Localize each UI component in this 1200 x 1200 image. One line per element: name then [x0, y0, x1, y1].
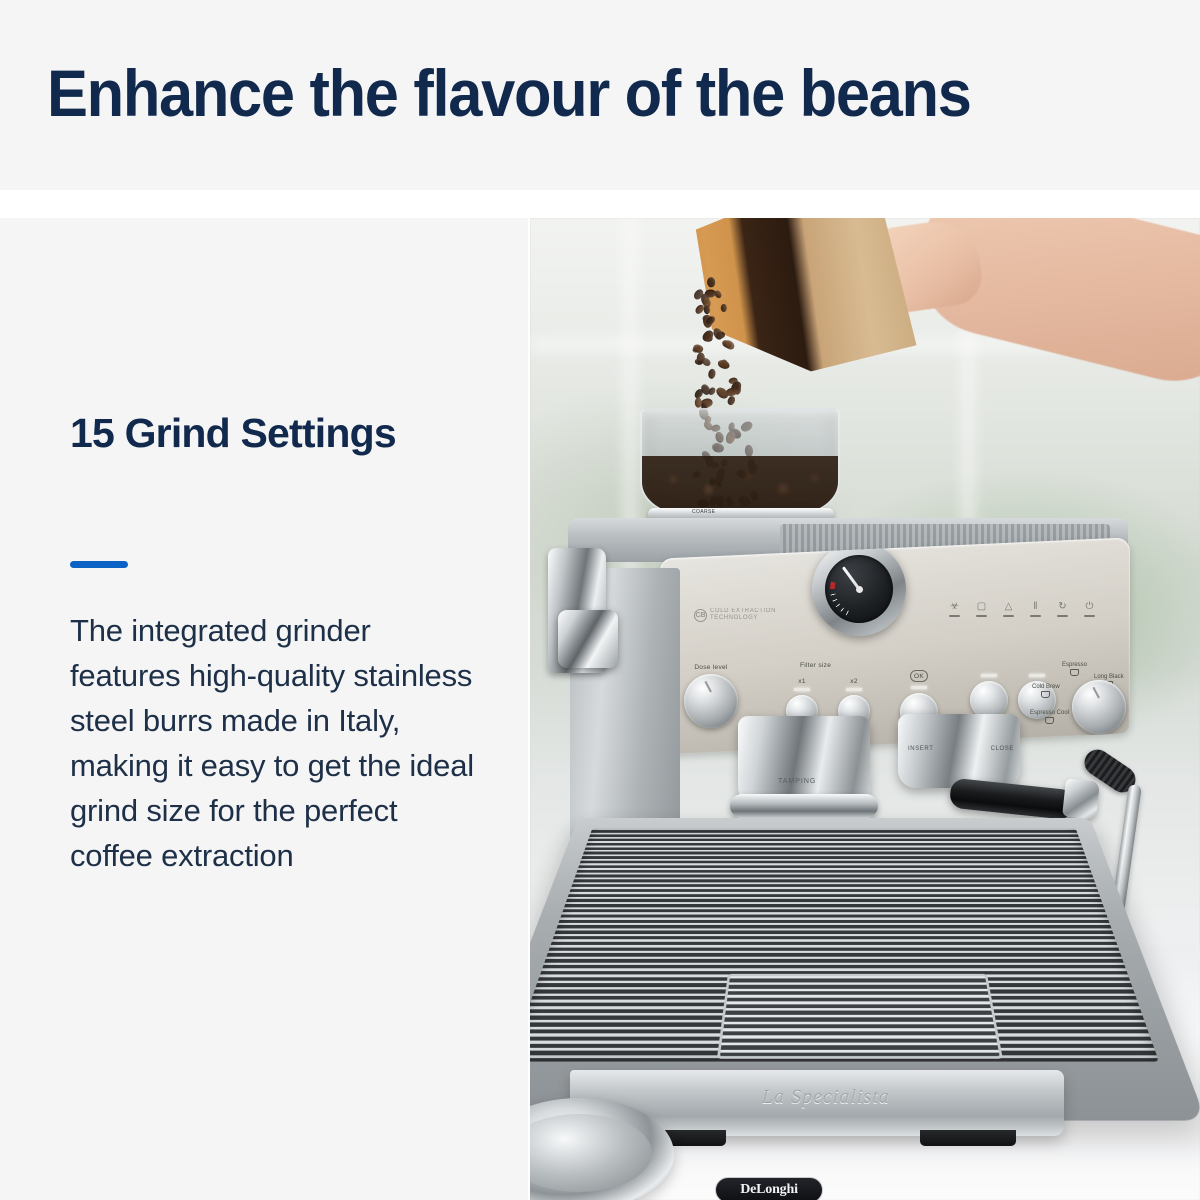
cold-extraction-mark: CB [694, 609, 707, 622]
cup-warmer-icon: ▢ [975, 602, 988, 617]
drink-mode-label: Espresso [1062, 662, 1087, 676]
pressure-gauge [812, 542, 906, 636]
drink-mode-icon [1070, 669, 1079, 676]
ok-label: OK [910, 670, 928, 682]
portafilter-labels: INSERT CLOSE [908, 746, 1014, 752]
feature-description: The integrated grinder features high-qua… [70, 608, 482, 878]
filter-size-label: Filter size [800, 662, 831, 669]
drink-mode-label: Cold Brew [1032, 684, 1060, 698]
metal-saucer-inner [530, 1114, 652, 1192]
coffee-bean [707, 368, 716, 379]
dose-level-control[interactable]: Dose level [684, 664, 738, 728]
hot-water-button[interactable] [970, 681, 1008, 719]
promo-page: Enhance the flavour of the beans 15 Grin… [0, 0, 1200, 1200]
pressure-gauge-hub [856, 586, 863, 593]
power-icon: ⏻ [1083, 602, 1096, 617]
drink-mode-icon [1041, 691, 1050, 698]
header-band: Enhance the flavour of the beans [0, 0, 1200, 190]
tamping-label: TAMPING [778, 778, 816, 785]
coffee-bean [720, 304, 726, 312]
page-title: Enhance the flavour of the beans [47, 56, 971, 130]
clean-icon: ↻ [1056, 602, 1069, 617]
filter-size-x2-label: x2 [850, 678, 857, 685]
machine-foot [920, 1130, 1016, 1146]
pressure-gauge-face [825, 555, 893, 623]
dose-level-label: Dose level [694, 664, 727, 671]
feature-heading: 15 Grind Settings [70, 408, 470, 459]
coffee-bean [694, 359, 703, 367]
coffee-bean [707, 277, 715, 288]
filter-size-x2-indicator [846, 688, 862, 691]
cold-extraction-title: COLD EXTRACTION [710, 608, 776, 615]
status-indicator-row: ☣ ▢ △ ‖ ↻ ⏻ [948, 602, 1096, 617]
portafilter-close-label: CLOSE [991, 746, 1014, 752]
grinder-spout-collar [730, 794, 878, 818]
portafilter-insert-label: INSERT [908, 746, 934, 752]
feature-text-panel: 15 Grind Settings The integrated grinder… [0, 218, 528, 1200]
cold-extraction-subtitle: TECHNOLOGY [710, 615, 776, 622]
drink-mode-label: Espresso Cool [1030, 710, 1069, 724]
drink-selector-control[interactable]: Cold BrewEspressoLong BlackEspresso Cool [1072, 666, 1126, 734]
tamping-lever-knob[interactable] [558, 610, 618, 668]
cold-extraction-badge: CB COLD EXTRACTION TECHNOLOGY [694, 608, 776, 622]
filter-size-x1-indicator [794, 688, 810, 691]
ok-indicator [911, 686, 927, 689]
drink-mode-icon [1045, 717, 1054, 724]
coffee-bean [716, 358, 730, 370]
filter-size-group: Filter size [800, 662, 831, 672]
drink-selector-knob[interactable] [1072, 680, 1126, 734]
product-photo: COFFEE BEANS ARABICA COARSE 15131197531 … [530, 218, 1200, 1200]
model-name-emboss: La Specialista [762, 1086, 890, 1109]
grind-coarse-label: COARSE [692, 509, 716, 515]
portafilter-handle-cap [1062, 778, 1100, 819]
control-panel: CB COLD EXTRACTION TECHNOLOGY ☣ ▢ △ ‖ ↻ … [660, 537, 1130, 754]
descale-icon: ☣ [948, 602, 961, 617]
machine-brand-badge: DeLonghi [715, 1177, 823, 1200]
drip-tray-cup-platform [717, 974, 1003, 1059]
water-tank-icon: △ [1002, 602, 1015, 617]
pause-icon: ‖ [1029, 602, 1042, 617]
hot-water-control[interactable] [970, 674, 1008, 719]
bean-hopper [640, 408, 840, 516]
accent-divider [70, 561, 128, 568]
coffee-bean [726, 395, 736, 406]
hopper-beans [642, 456, 838, 514]
hot-water-indicator [981, 674, 997, 677]
filter-size-x1-label: x1 [798, 678, 805, 685]
machine-brand-badge-text: DeLonghi [740, 1182, 798, 1198]
dose-level-knob[interactable] [684, 674, 738, 728]
